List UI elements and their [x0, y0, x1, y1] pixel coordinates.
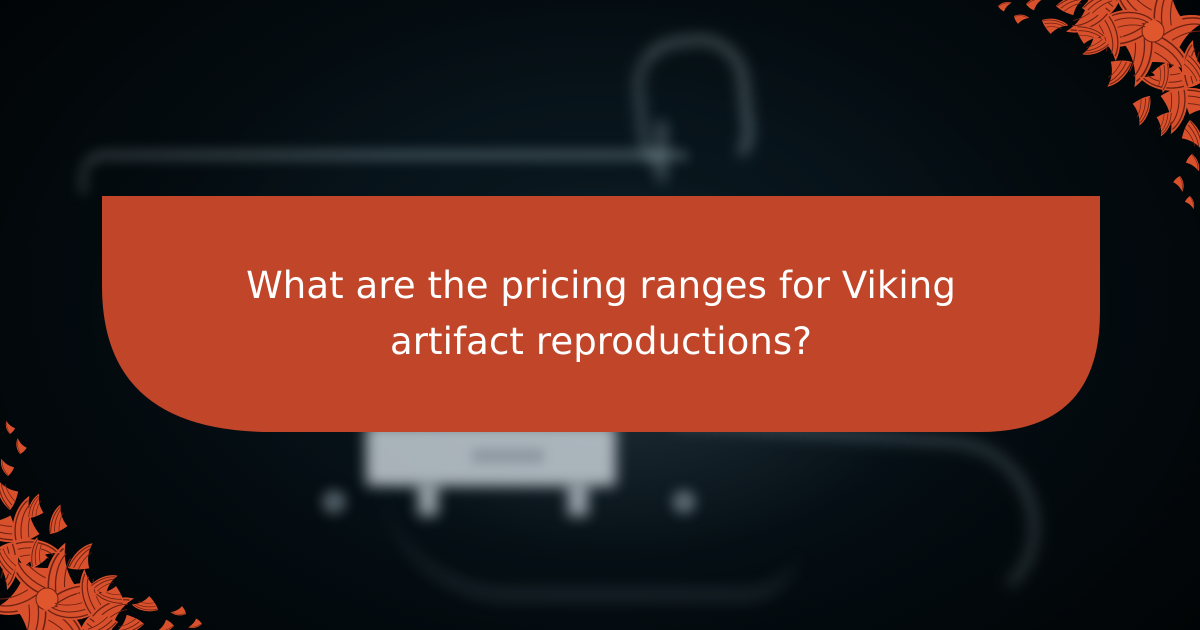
social-card: What are the pricing ranges for Viking a…	[0, 0, 1200, 630]
question-title: What are the pricing ranges for Viking a…	[222, 258, 980, 370]
question-banner-text-wrap: What are the pricing ranges for Viking a…	[102, 196, 1100, 432]
